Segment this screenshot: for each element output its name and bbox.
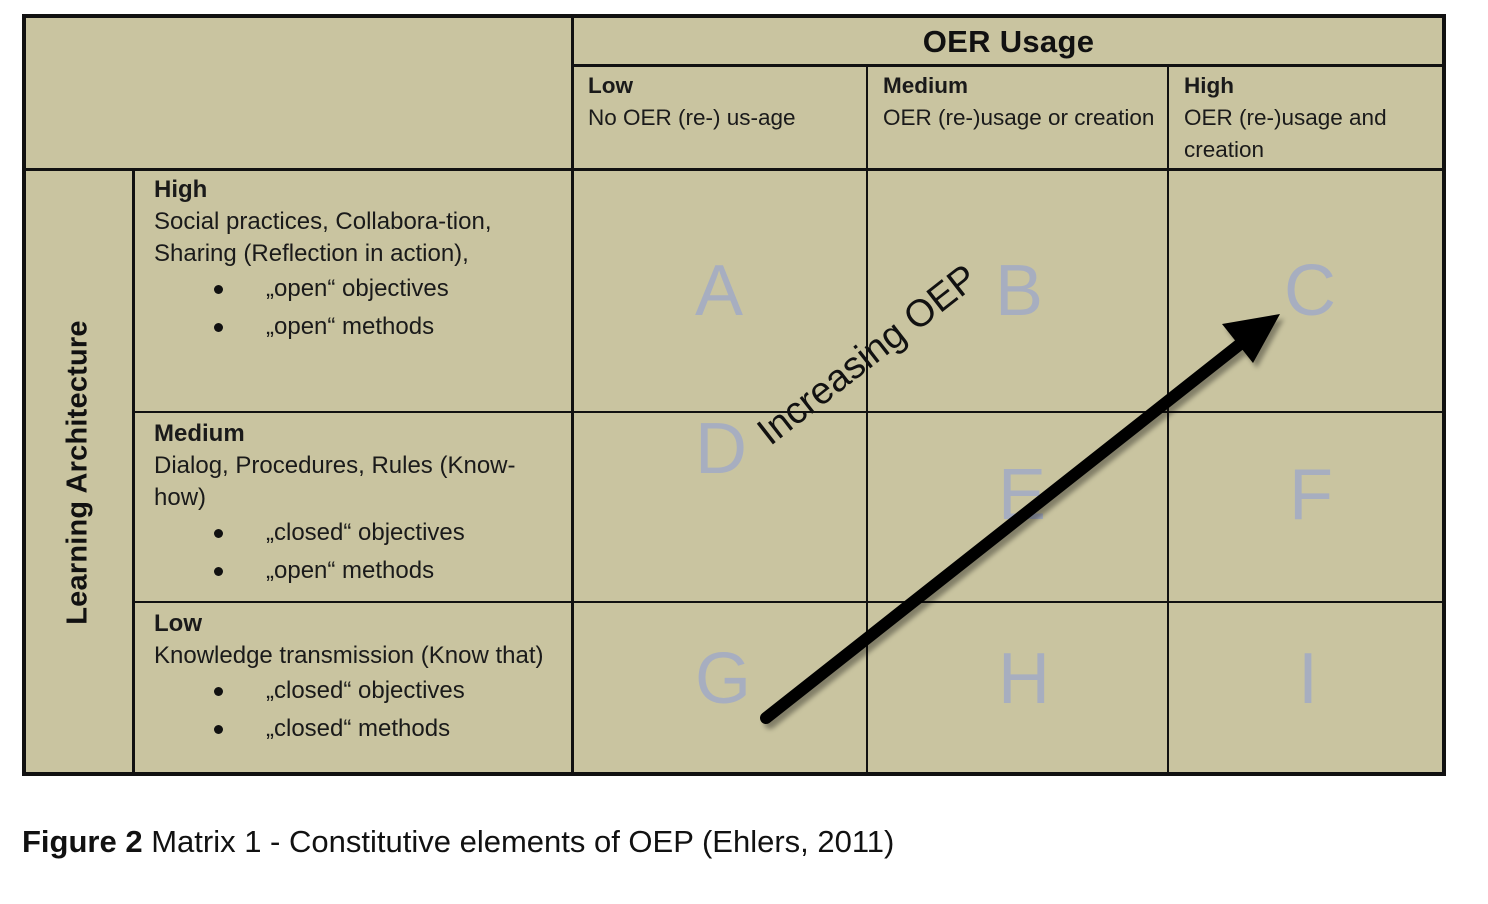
row-header-high: High Social practices, Collabora-tion, S… xyxy=(136,170,575,412)
cell-letter-a: A xyxy=(695,255,743,327)
cell-letter-c: C xyxy=(1284,255,1336,327)
figure-oep-matrix: OER Usage Low No OER (re-) us-age Medium… xyxy=(0,0,1488,904)
list-item: „open“ methods xyxy=(214,308,567,346)
row-header-low-level: Low xyxy=(154,608,567,640)
column-header-low-description: No OER (re-) us-age xyxy=(588,102,856,134)
rule-col-axis xyxy=(132,168,135,772)
row-header-low: Low Knowledge transmission (Know that) „… xyxy=(136,604,575,776)
list-item: „closed“ objectives xyxy=(214,672,567,710)
list-item: „closed“ objectives xyxy=(214,514,567,552)
rule-col-medium-high xyxy=(1167,64,1169,772)
row-header-high-bullets: „open“ objectives „open“ methods xyxy=(154,270,567,346)
cell-letter-d: D xyxy=(695,413,747,485)
figure-caption-text: Matrix 1 - Constitutive elements of OEP … xyxy=(143,824,895,859)
column-header-high: High OER (re-)usage and creation xyxy=(1171,70,1442,170)
rule-header-title-bottom xyxy=(571,64,1442,67)
row-header-medium-description: Dialog, Procedures, Rules (Know-how) xyxy=(154,450,567,514)
row-header-low-description: Knowledge transmission (Know that) xyxy=(154,640,567,672)
row-axis-title-text: Learning Architecture xyxy=(62,320,95,624)
row-header-high-level: High xyxy=(154,174,567,206)
column-axis-title: OER Usage xyxy=(575,20,1442,64)
cell-letter-e: E xyxy=(998,459,1046,531)
figure-caption: Figure 2 Matrix 1 - Constitutive element… xyxy=(22,824,1462,860)
column-header-high-level: High xyxy=(1184,70,1432,102)
row-header-high-description: Social practices, Collabora-tion, Sharin… xyxy=(154,206,567,270)
matrix-table: OER Usage Low No OER (re-) us-age Medium… xyxy=(22,14,1446,776)
rule-col-low-medium xyxy=(866,64,868,772)
row-header-medium: Medium Dialog, Procedures, Rules (Know-h… xyxy=(136,414,575,602)
column-header-medium: Medium OER (re-)usage or creation xyxy=(870,70,1166,170)
row-header-low-bullets: „closed“ objectives „closed“ methods xyxy=(154,672,567,748)
row-header-medium-level: Medium xyxy=(154,418,567,450)
cell-letter-f: F xyxy=(1289,459,1333,531)
column-header-medium-level: Medium xyxy=(883,70,1156,102)
list-item: „open“ objectives xyxy=(214,270,567,308)
column-header-high-description: OER (re-)usage and creation xyxy=(1184,102,1432,166)
list-item: „closed“ methods xyxy=(214,710,567,748)
row-header-medium-bullets: „closed“ objectives „open“ methods xyxy=(154,514,567,590)
cell-letter-i: I xyxy=(1298,643,1318,715)
column-header-medium-description: OER (re-)usage or creation xyxy=(883,102,1156,134)
column-header-low: Low No OER (re-) us-age xyxy=(575,70,866,170)
cell-letter-g: G xyxy=(695,643,751,715)
figure-caption-label: Figure 2 xyxy=(22,824,143,859)
column-header-low-level: Low xyxy=(588,70,856,102)
cell-letter-b: B xyxy=(995,255,1043,327)
list-item: „open“ methods xyxy=(214,552,567,590)
row-axis-title: Learning Architecture xyxy=(25,170,132,774)
cell-letter-h: H xyxy=(998,643,1050,715)
